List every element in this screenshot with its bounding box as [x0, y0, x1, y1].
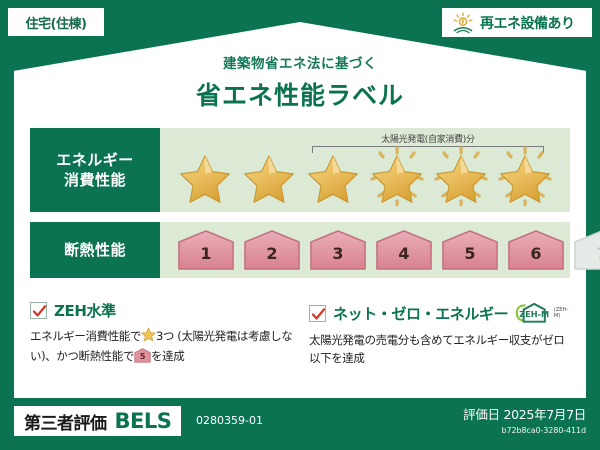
- energy-star-3: [302, 146, 364, 206]
- zeh-desc-part3: を達成: [151, 349, 184, 363]
- ratings-section: エネルギー 消費性能 太陽光発電(自家消費)分: [30, 128, 570, 278]
- house-type-label: 住宅(住棟): [26, 13, 87, 32]
- footer-bar: 第三者評価 BELS 0280359-01 評価日 2025年7月7日 b72b…: [0, 398, 600, 450]
- bels-chip: 第三者評価 BELS: [14, 406, 181, 436]
- insulation-grade-2: 2: [242, 229, 302, 271]
- insulation-grade-number: 6: [506, 244, 566, 263]
- bels-logo-text: BELS: [115, 409, 172, 433]
- inline-grade-number: 5: [134, 351, 151, 363]
- insulation-grade-3: 3: [308, 229, 368, 271]
- criterion-net-zero: ネット・ゼロ・エネルギー ZEH-M (ZEH-M) 太陽光発電の売電分も含めて…: [309, 300, 574, 368]
- net-zero-title: ネット・ゼロ・エネルギー: [333, 303, 508, 324]
- insulation-grade-7: 7: [572, 229, 600, 271]
- insulation-grade-1: 1: [176, 229, 236, 271]
- energy-label-line1: エネルギー: [56, 150, 134, 170]
- insulation-performance-row: 断熱性能 1: [30, 222, 570, 278]
- energy-performance-body: 太陽光発電(自家消費)分: [160, 128, 570, 212]
- evaluation-date-value: 2025年7月7日: [503, 407, 586, 422]
- renewable-badge-label: 再エネ設備あり: [480, 13, 575, 33]
- insulation-performance-label: 断熱性能: [30, 222, 160, 278]
- solar-annotation-text: 太陽光発電(自家消費)分: [312, 132, 544, 145]
- zeh-description: エネルギー消費性能で 3つ (太陽光発電は考慮しない)、かつ断熱性能で 5を達成: [30, 327, 295, 366]
- energy-performance-label: エネルギー 消費性能: [30, 128, 160, 212]
- insulation-grade-number: 4: [374, 244, 434, 263]
- zeh-checkbox[interactable]: [30, 302, 47, 319]
- energy-label-line2: 消費性能: [64, 170, 126, 190]
- energy-star-6: [494, 146, 556, 206]
- insulation-grade-number: 7: [572, 244, 600, 263]
- insulation-grade-4: 4: [374, 229, 434, 271]
- energy-star-2: [238, 146, 300, 206]
- house-type-chip: 住宅(住棟): [8, 8, 104, 36]
- energy-star-4: [366, 146, 428, 206]
- evaluation-date-line: 評価日 2025年7月7日: [463, 404, 586, 423]
- energy-star-1: [174, 146, 236, 206]
- renewable-energy-badge: 再エネ設備あり: [442, 8, 592, 37]
- evaluation-id: b72b8ca0-3280-411d: [463, 426, 586, 435]
- insulation-grade-6: 6: [506, 229, 566, 271]
- evaluation-info: 評価日 2025年7月7日 b72b8ca0-3280-411d: [463, 404, 586, 435]
- criterion-net-zero-header: ネット・ゼロ・エネルギー ZEH-M (ZEH-M): [309, 300, 574, 326]
- energy-star-5: [430, 146, 492, 206]
- insulation-grade-5: 5: [440, 229, 500, 271]
- zeh-title: ZEH水準: [54, 300, 116, 321]
- criteria-section: ZEH水準 エネルギー消費性能で 3つ (太陽光発電は考慮しない)、かつ断熱性能…: [30, 300, 575, 368]
- insulation-grade-number: 5: [440, 244, 500, 263]
- svg-text:ZEH-M: ZEH-M: [519, 309, 549, 319]
- inline-grade-house-icon: 5: [134, 348, 151, 363]
- net-zero-description: 太陽光発電の売電分も含めてエネルギー収支がゼロ以下を達成: [309, 332, 574, 368]
- energy-label-card: 住宅(住棟) 再エネ設備あり 建築物省エネ法に基づく 省エネ性能ラベル: [0, 0, 600, 450]
- insulation-grade-number: 2: [242, 244, 302, 263]
- criterion-zeh-header: ZEH水準: [30, 300, 295, 321]
- sun-icon: [451, 12, 475, 34]
- insulation-label-text: 断熱性能: [64, 240, 126, 260]
- inline-star-icon: [141, 327, 156, 348]
- certificate-number: 0280359-01: [196, 414, 263, 427]
- criterion-zeh: ZEH水準 エネルギー消費性能で 3つ (太陽光発電は考慮しない)、かつ断熱性能…: [30, 300, 295, 368]
- zeh-m-logo-caption: (ZEH-M): [554, 307, 574, 319]
- zeh-m-logo: ZEH-M (ZEH-M): [513, 300, 574, 326]
- energy-performance-row: エネルギー 消費性能 太陽光発電(自家消費)分: [30, 128, 570, 212]
- insulation-grade-number: 3: [308, 244, 368, 263]
- insulation-grade-number: 1: [176, 244, 236, 263]
- net-zero-checkbox[interactable]: [309, 305, 326, 322]
- third-party-label: 第三者評価: [24, 409, 107, 434]
- energy-star-rating: [160, 146, 570, 206]
- insulation-grade-scale: 1 2: [160, 222, 570, 278]
- evaluation-date-label: 評価日: [463, 407, 500, 422]
- zeh-desc-part1: エネルギー消費性能で: [30, 329, 141, 343]
- insulation-performance-body: 1 2: [160, 222, 570, 278]
